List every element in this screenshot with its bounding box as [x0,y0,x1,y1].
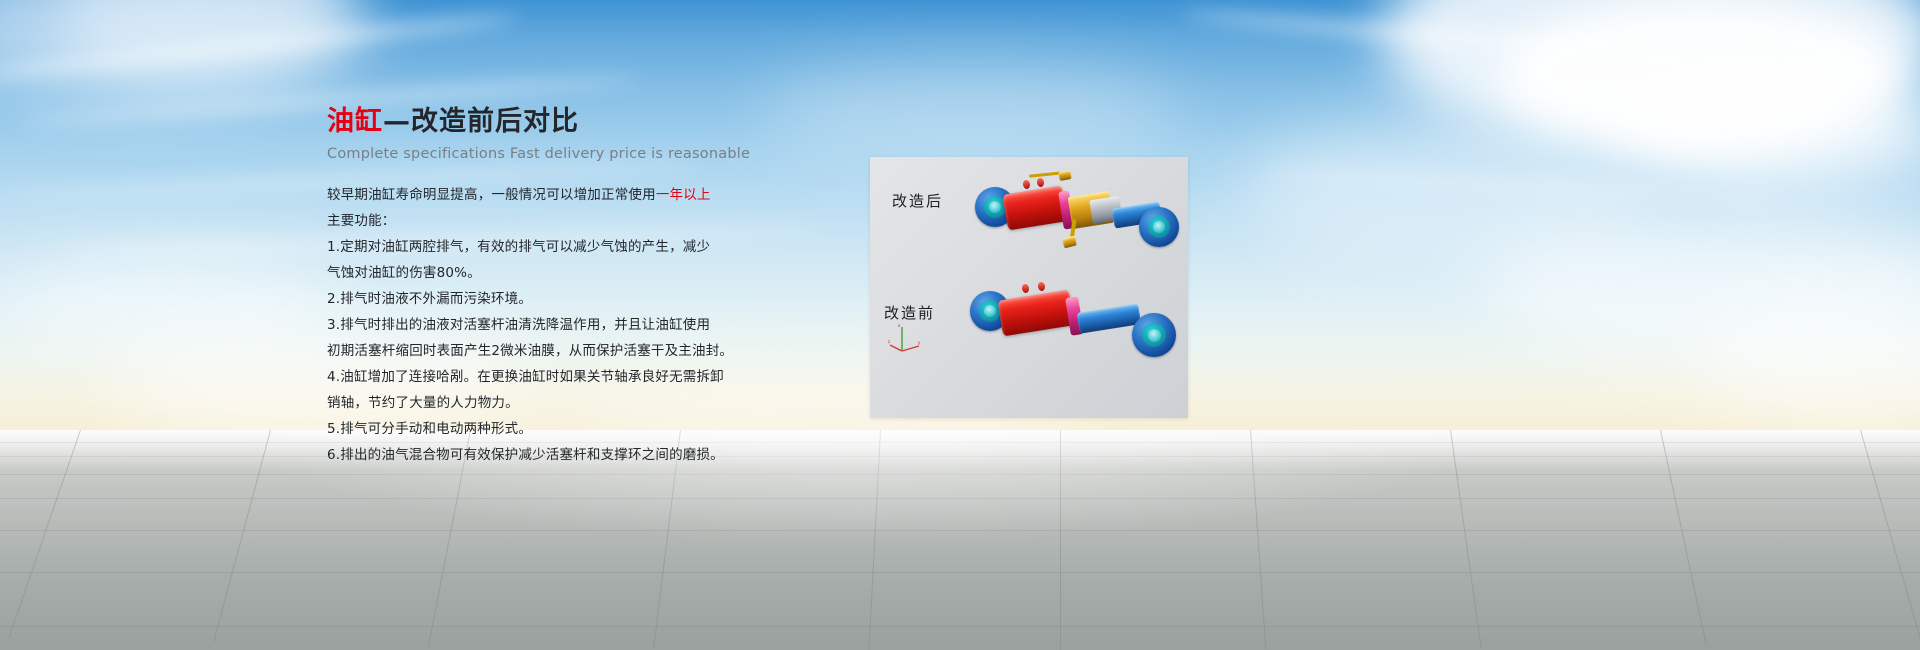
feature-line: 主要功能： [327,208,757,234]
feature-line: 3.排气时排出的油液对活塞杆油清洗降温作用，并且让油缸使用 [327,312,757,338]
floor-line [0,456,1920,457]
svg-text:x: x [898,323,901,328]
page-subtitle: Complete specifications Fast delivery pr… [327,146,757,162]
page-title: 油缸—改造前后对比 [327,106,757,137]
feature-line-highlight: 一年以上 [656,187,711,203]
feature-line: 初期活塞杆缩回时表面产生2微米油膜，从而保护活塞干及主油封。 [327,338,757,364]
floor-line [0,626,1920,627]
feature-line: 6.排出的油气混合物可有效保护减少活塞杆和支撑环之间的磨损。 [327,442,757,468]
feature-line: 4.油缸增加了连接哈剐。在更换油缸时如果关节轴承良好无需拆卸 [327,364,757,390]
feature-line: 2.排气时油液不外漏而污染环境。 [327,286,757,312]
label-before-modification: 改造前 [884,302,935,323]
cylinder-port-nub [1022,180,1030,190]
cylinder-eye-core [984,305,996,317]
title-rest: —改造前后对比 [383,106,579,137]
feature-line: 较早期油缸寿命明显提高，一般情况可以增加正常使用一年以上 [327,182,757,208]
cloud-shape [760,60,1180,160]
svg-text:z: z [888,339,890,344]
coordinate-axis-icon: x y z [888,323,922,353]
title-highlight: 油缸 [327,106,383,137]
floor-line [0,442,1920,443]
banner-text-block: 油缸—改造前后对比 Complete specifications Fast d… [327,106,757,468]
cylinder-port-nub [1037,282,1045,292]
feature-list: 较早期油缸寿命明显提高，一般情况可以增加正常使用一年以上 主要功能： 1.定期对… [327,182,757,468]
vent-valve-block [1062,236,1077,249]
product-image-panel: 改造后 改造前 x y z [870,157,1188,418]
floor-line [0,498,1920,499]
feature-line-text: 较早期油缸寿命明显提高，一般情况可以增加正常使用 [327,187,656,203]
svg-text:y: y [918,340,921,345]
feature-line: 气蚀对油缸的伤害80%。 [327,260,757,286]
cylinder-port-nub [1036,178,1044,188]
vent-valve-block [1058,170,1071,181]
feature-line: 1.定期对油缸两腔排气，有效的排气可以减少气蚀的产生，减少 [327,234,757,260]
floor-line [0,530,1920,531]
cylinder-eye-core [989,201,1001,213]
horizon-haze [0,430,1920,470]
floor-line [0,474,1920,475]
cylinder-eye-core [1153,221,1165,233]
cloud-shape [1620,70,1920,190]
banner-stage: 油缸—改造前后对比 Complete specifications Fast d… [0,0,1920,650]
cylinder-barrel [998,290,1075,337]
feature-line: 销轴，节约了大量的人力物力。 [327,390,757,416]
cylinder-render-after [975,167,1180,277]
label-after-modification: 改造后 [892,190,943,211]
cylinder-render-before [970,275,1182,385]
cylinder-eye-core [1148,329,1161,342]
floor-line [1060,430,1061,650]
feature-line: 5.排气可分手动和电动两种形式。 [327,416,757,442]
concrete-floor [0,430,1920,650]
cylinder-port-nub [1021,284,1029,294]
floor-line [0,572,1920,573]
